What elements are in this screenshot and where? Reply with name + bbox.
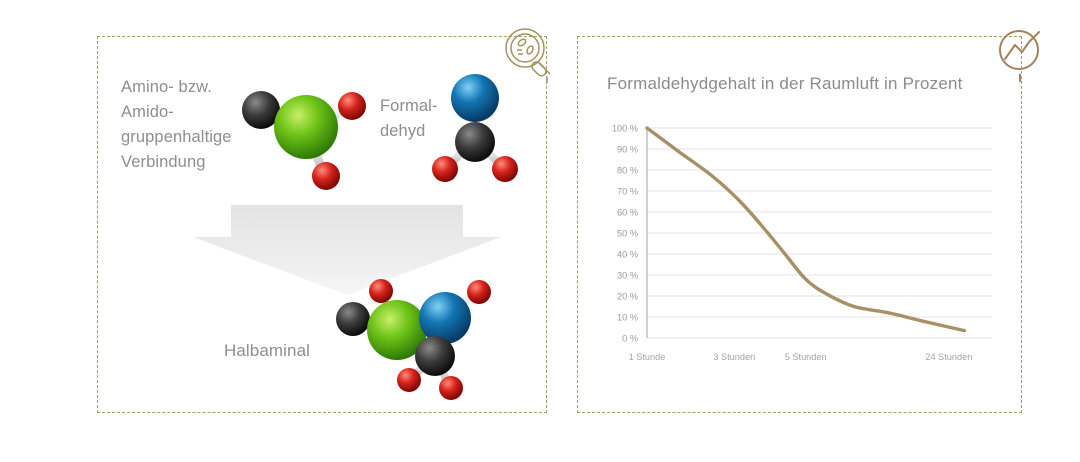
y-axis-tick-label: 10 % bbox=[617, 312, 638, 322]
chart-title: Formaldehydgehalt in der Raumluft in Pro… bbox=[607, 74, 963, 94]
y-axis-tick-label: 50 % bbox=[617, 228, 638, 238]
y-axis-tick-label: 30 % bbox=[617, 270, 638, 280]
magnifier-germs-icon bbox=[500, 24, 562, 86]
y-axis-tick-label: 60 % bbox=[617, 207, 638, 217]
y-axis-tick-label: 90 % bbox=[617, 144, 638, 154]
molecule-amino-compound bbox=[236, 72, 372, 194]
x-axis-tick-label: 5 Stunden bbox=[785, 352, 827, 362]
y-axis-tick-label: 70 % bbox=[617, 186, 638, 196]
x-axis-tick-label: 24 Stunden bbox=[925, 352, 972, 362]
y-axis-tick-label: 100 % bbox=[612, 123, 638, 133]
trend-chart-icon bbox=[991, 24, 1053, 86]
molecule-halbaminal bbox=[325, 272, 503, 400]
y-axis-tick-label: 80 % bbox=[617, 165, 638, 175]
x-axis-tick-label: 3 Stunden bbox=[713, 352, 755, 362]
chart-series-line bbox=[647, 128, 964, 331]
y-axis-tick-label: 20 % bbox=[617, 291, 638, 301]
formaldehyde-decay-chart: 100 %90 %80 %70 %60 %50 %40 %30 %20 %10 … bbox=[600, 118, 1000, 380]
x-axis-tick-label: 1 Stunde bbox=[629, 352, 666, 362]
y-axis-tick-label: 0 % bbox=[622, 333, 638, 343]
y-axis-tick-label: 40 % bbox=[617, 249, 638, 259]
